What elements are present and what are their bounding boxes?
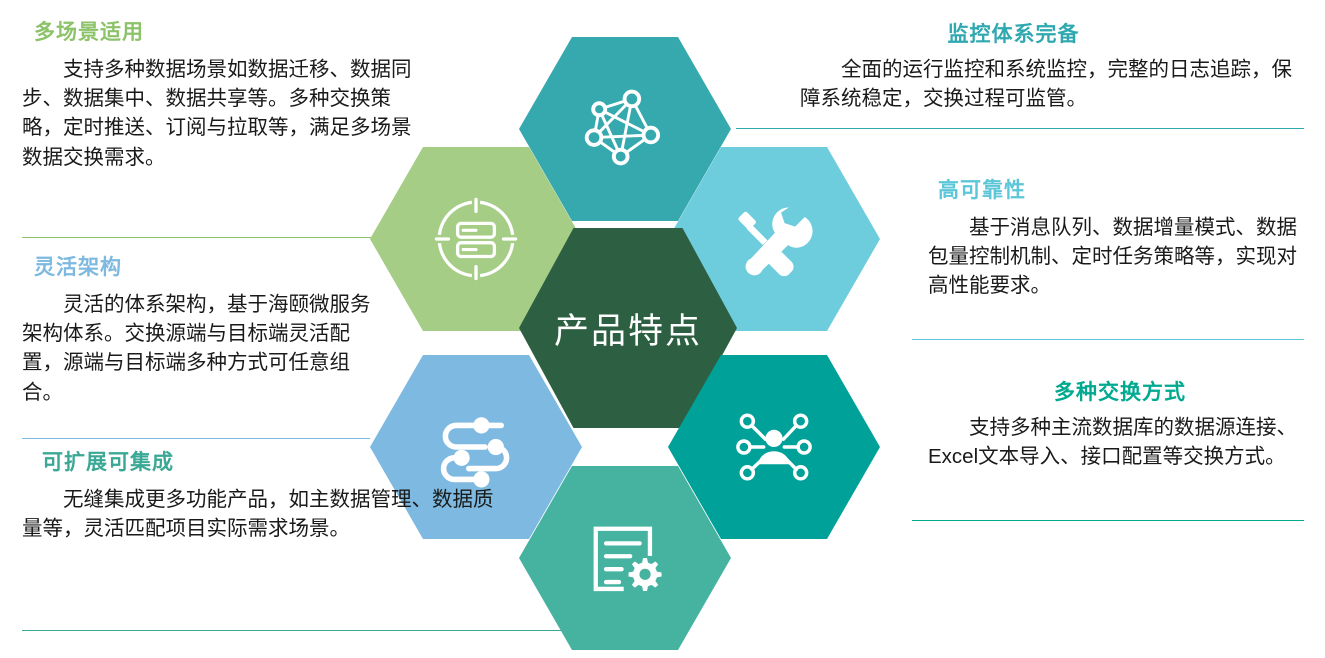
divider-deep-teal [912,520,1304,521]
user-network-icon [731,404,817,490]
section-body-exchange-methods: 支持多种主流数据库的数据源连接、Excel文本导入、接口配置等交换方式。 [928,413,1306,471]
tools-icon [730,195,818,283]
section-exchange-methods: 多种交换方式 支持多种主流数据库的数据源连接、Excel文本导入、接口配置等交换… [928,380,1320,471]
divider-sky [912,339,1304,340]
section-flexible-architecture: 灵活架构 灵活的体系架构，基于海颐微服务架构体系。交换源端与目标端灵活配置，源端… [22,255,392,407]
divider-mint [22,630,585,631]
section-title-flexible-architecture: 灵活架构 [34,255,392,280]
section-body-monitoring-complete: 全面的运行监控和系统监控，完整的日志追踪，保障系统稳定，交换过程可监管。 [800,55,1298,113]
section-title-high-reliability: 高可靠性 [938,178,1318,203]
section-title-exchange-methods: 多种交换方式 [920,380,1320,405]
divider-teal-top [736,128,1304,129]
section-body-high-reliability: 基于消息队列、数据增量模式、数据包量控制机制、定时任务策略等，实现对高性能要求。 [928,213,1304,300]
document-gear-icon [582,515,668,601]
divider-green [22,237,374,238]
section-monitoring-complete: 监控体系完备 全面的运行监控和系统监控，完整的日志追踪，保障系统稳定，交换过程可… [760,22,1305,113]
target-database-icon [430,193,522,285]
section-multi-scenario: 多场景适用 支持多种数据场景如数据迁移、数据同步、数据集中、数据共享等。多种交换… [22,20,412,172]
section-body-multi-scenario: 支持多种数据场景如数据迁移、数据同步、数据集中、数据共享等。多种交换策略，定时推… [22,55,412,171]
section-extensible-integrable: 可扩展可集成 无缝集成更多功能产品，如主数据管理、数据质量等，灵活匹配项目实际需… [22,450,522,543]
section-title-monitoring-complete: 监控体系完备 [722,22,1305,47]
center-title: 产品特点 [554,303,702,354]
divider-blue [22,438,370,439]
network-mesh-icon [582,86,668,172]
section-title-extensible-integrable: 可扩展可集成 [42,450,522,475]
section-title-multi-scenario: 多场景适用 [34,20,412,45]
section-body-flexible-architecture: 灵活的体系架构，基于海颐微服务架构体系。交换源端与目标端灵活配置，源端与目标端多… [22,290,372,406]
section-body-extensible-integrable: 无缝集成更多功能产品，如主数据管理、数据质量等，灵活匹配项目实际需求场景。 [22,485,497,543]
infographic-canvas: 产品特点 [0,0,1325,658]
section-high-reliability: 高可靠性 基于消息队列、数据增量模式、数据包量控制机制、定时任务策略等，实现对高… [928,178,1318,301]
